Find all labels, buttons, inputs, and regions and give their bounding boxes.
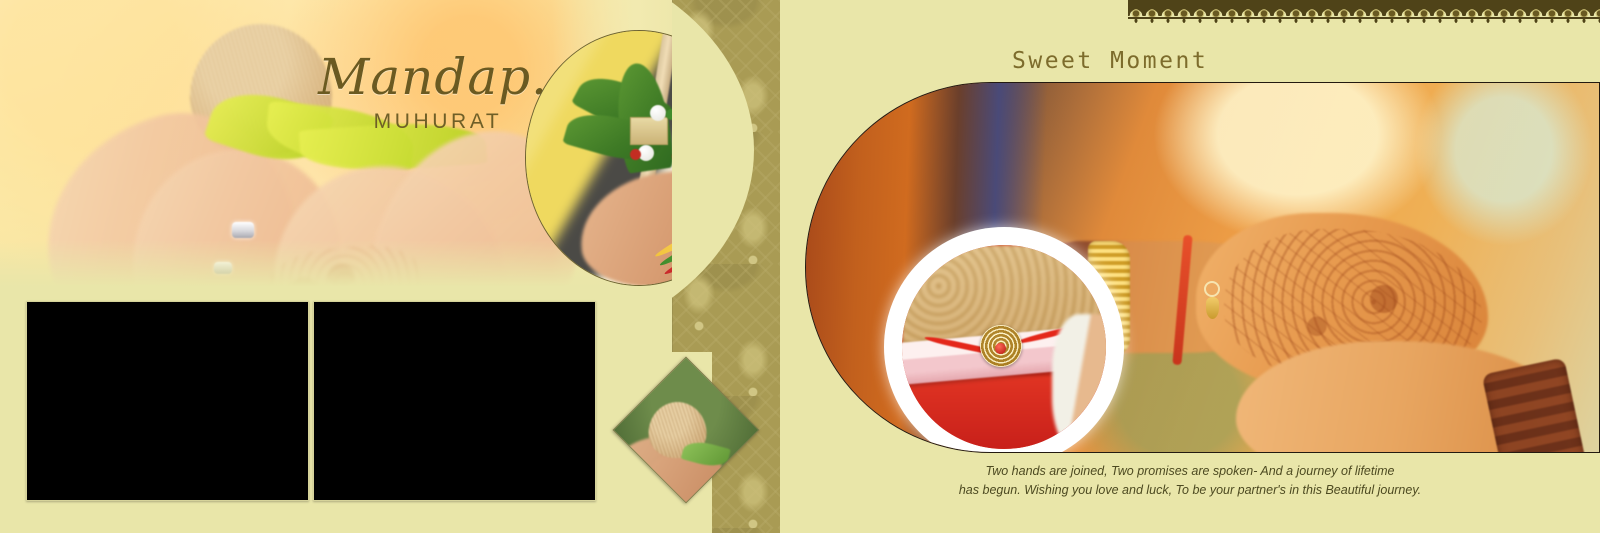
empty-photo-slot-2[interactable] <box>313 301 596 501</box>
caption-line-2: has begun. Wishing you love and luck, To… <box>780 481 1600 500</box>
left-page: Mandap... MUHURAT <box>0 0 700 533</box>
inset-photo <box>902 245 1106 449</box>
album-spread: Mandap... MUHURAT <box>0 0 1600 533</box>
hand-shape <box>1052 314 1106 449</box>
caption-line-1: Two hands are joined, Two promises are s… <box>780 462 1600 481</box>
section-title: Sweet Moment <box>1012 48 1208 74</box>
lace-arch-border-icon <box>1128 0 1600 24</box>
right-page: Sweet Moment <box>780 0 1600 533</box>
strip-curve-cutout <box>672 0 754 352</box>
empty-photo-slot-1[interactable] <box>26 301 309 501</box>
caption-text: Two hands are joined, Two promises are s… <box>780 462 1600 501</box>
ruby-stone <box>995 343 1006 354</box>
border-drops <box>1128 17 1600 24</box>
photo-hands-joined[interactable] <box>805 82 1600 453</box>
decor-bead <box>630 149 641 160</box>
mangalsutra-bead <box>980 325 1022 367</box>
kalash-wrap <box>630 117 668 145</box>
photo-mangalsutra-inset[interactable] <box>884 227 1124 453</box>
decor-bead <box>650 105 666 121</box>
ring-jewellery <box>232 222 254 238</box>
